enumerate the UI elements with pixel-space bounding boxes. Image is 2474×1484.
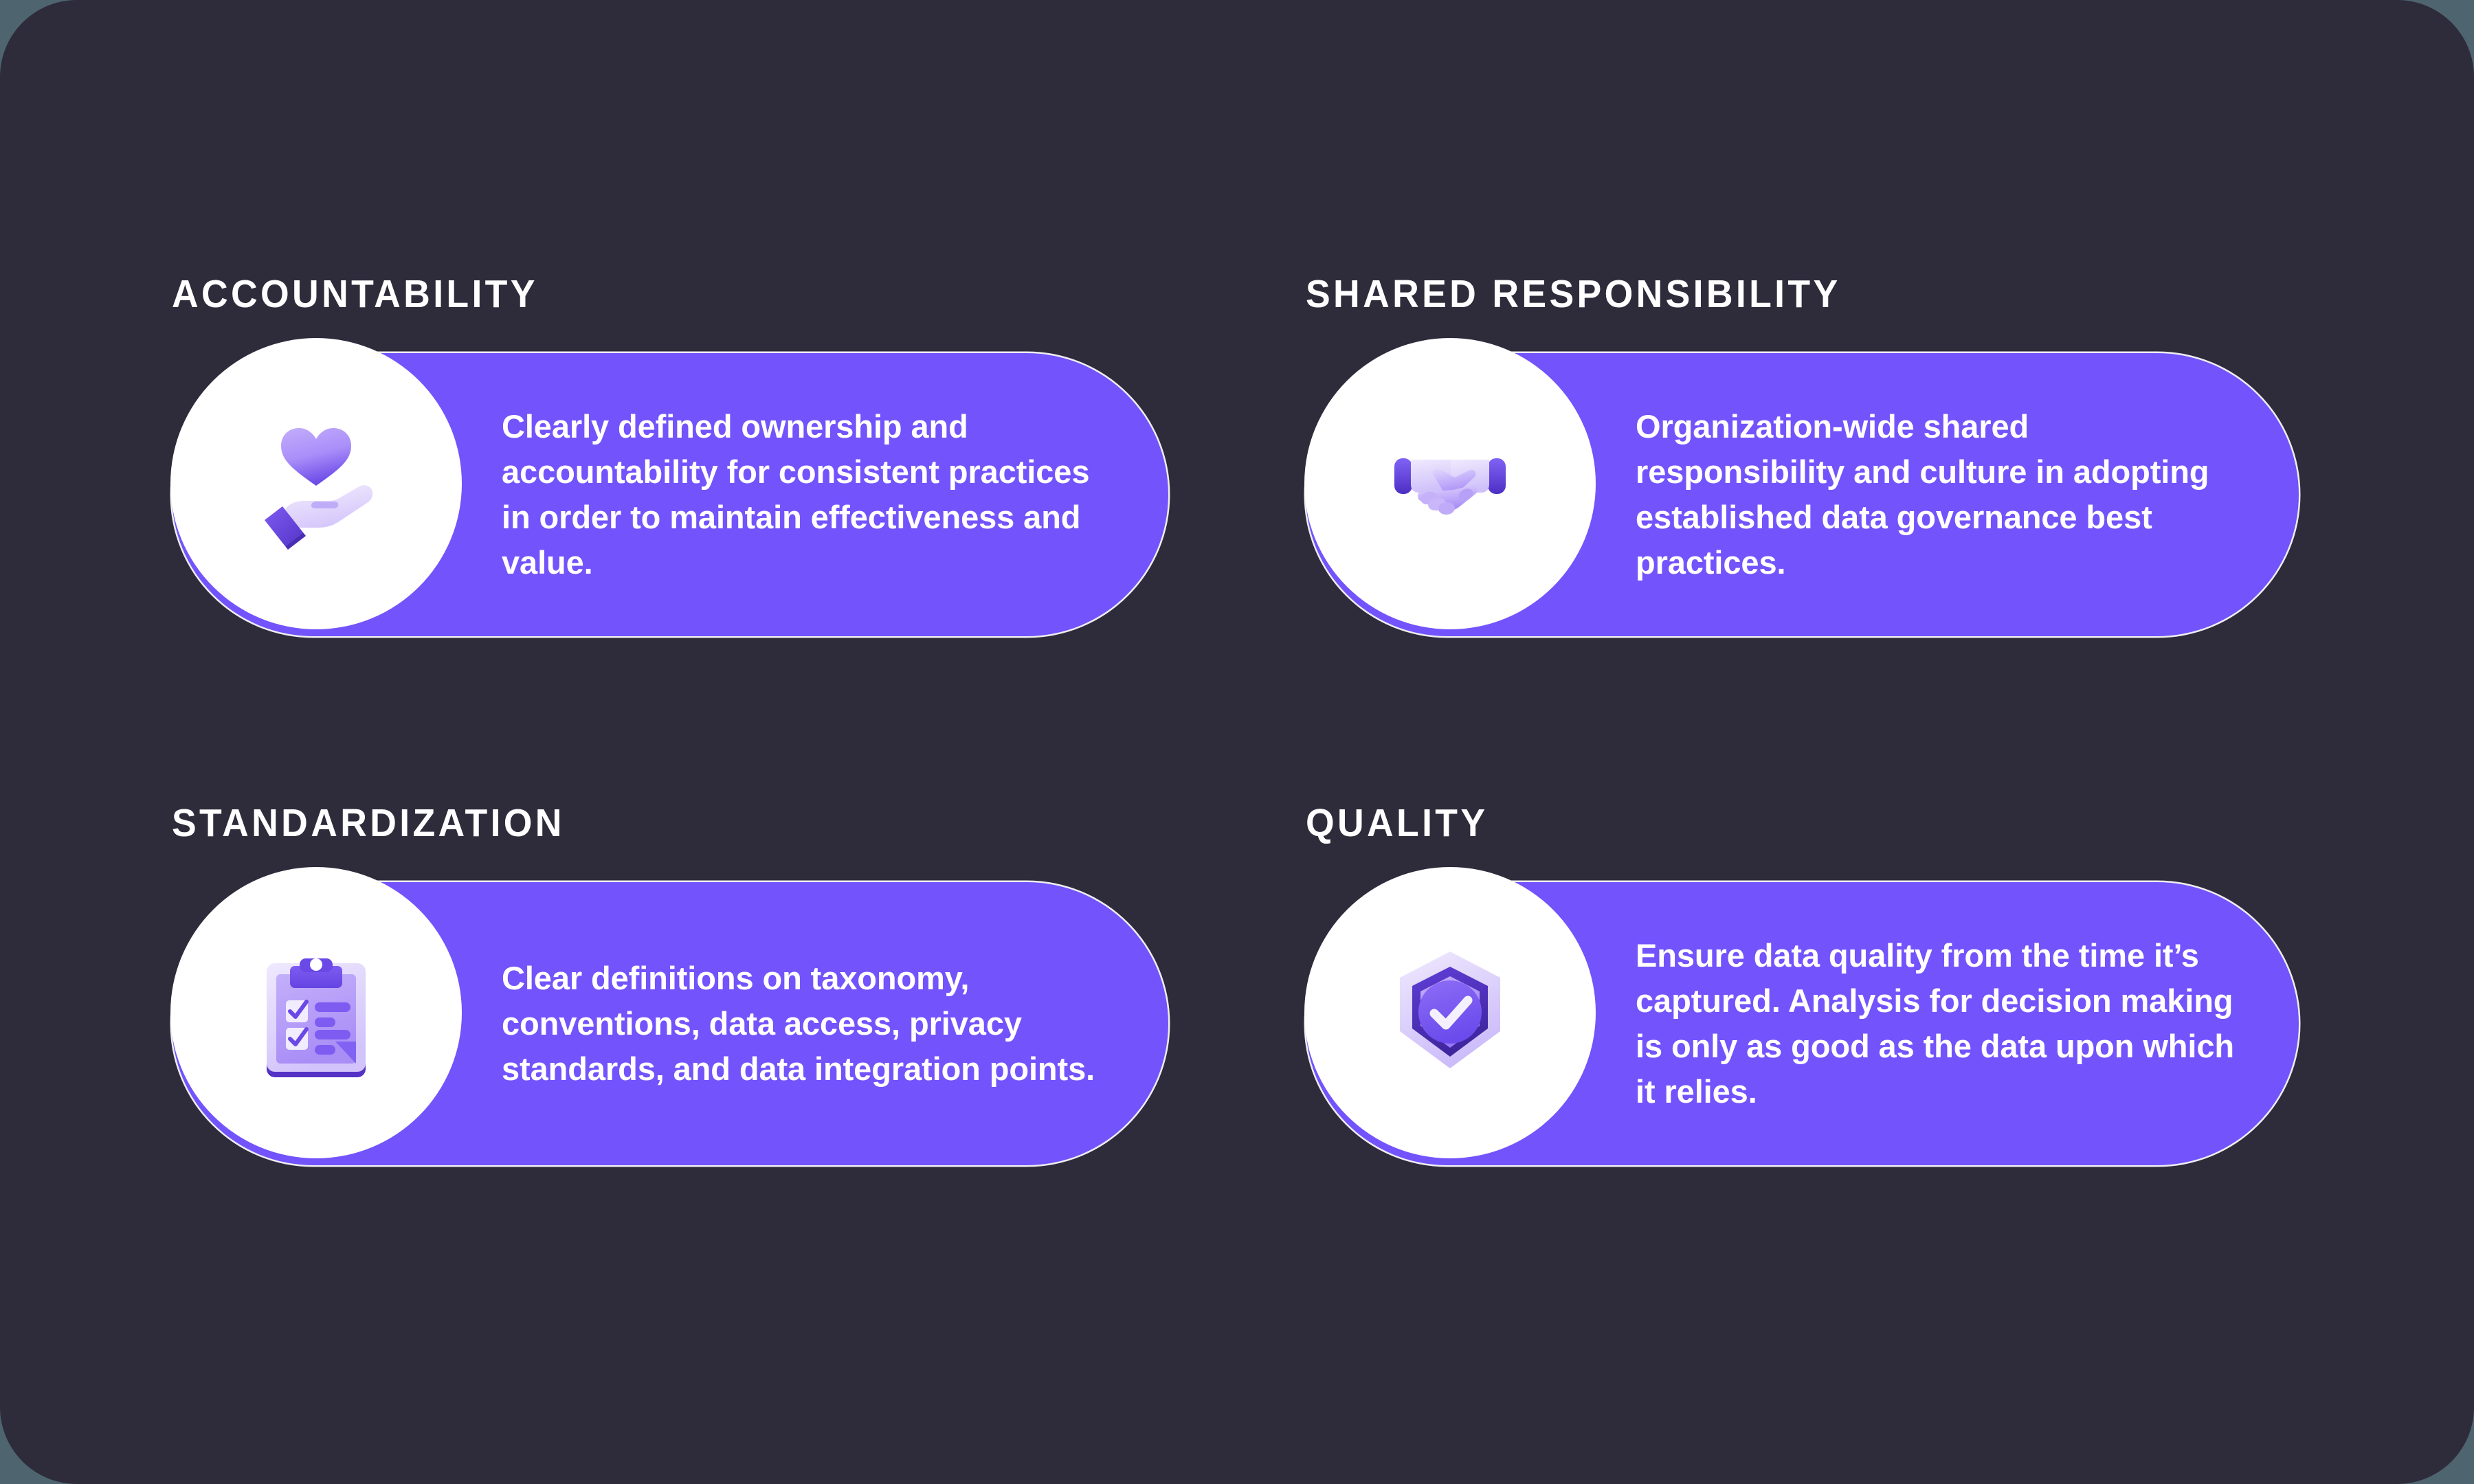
- icon-disc: [1304, 338, 1596, 629]
- infographic-panel: ACCOUNTABILITY: [0, 0, 2474, 1484]
- heart-in-hand-icon: [237, 405, 395, 563]
- card-title: ACCOUNTABILITY: [172, 275, 1108, 314]
- card-accountability: ACCOUNTABILITY: [172, 275, 1168, 636]
- card-body: Clear definitions on taxonomy, conventio…: [502, 956, 1127, 1091]
- card-pill: Clearly defined ownership and accountabi…: [172, 353, 1168, 636]
- card-body-wrap: Clear definitions on taxonomy, conventio…: [502, 882, 1127, 1165]
- icon-disc: [170, 338, 462, 629]
- card-body: Clearly defined ownership and accountabi…: [502, 404, 1102, 585]
- card-body-wrap: Ensure data quality from the time it’s c…: [1636, 882, 2258, 1165]
- card-body-wrap: Clearly defined ownership and accountabi…: [502, 353, 1102, 636]
- card-shared-responsibility: SHARED RESPONSIBILITY: [1306, 275, 2299, 636]
- icon-disc: [170, 867, 462, 1158]
- card-standardization: STANDARDIZATION: [172, 804, 1168, 1165]
- card-body: Ensure data quality from the time it’s c…: [1636, 933, 2258, 1114]
- card-body-wrap: Organization-wide shared responsibility …: [1636, 353, 2233, 636]
- card-title: QUALITY: [1306, 804, 2239, 843]
- clipboard-checklist-icon: [241, 937, 392, 1088]
- handshake-icon: [1371, 405, 1529, 563]
- card-pill: Organization-wide shared responsibility …: [1306, 353, 2299, 636]
- card-quality: QUALITY: [1306, 804, 2299, 1165]
- card-title: STANDARDIZATION: [172, 804, 1108, 843]
- card-pill: Clear definitions on taxonomy, conventio…: [172, 882, 1168, 1165]
- card-body: Organization-wide shared responsibility …: [1636, 404, 2233, 585]
- card-title: SHARED RESPONSIBILITY: [1306, 275, 2239, 314]
- shield-check-icon: [1372, 935, 1528, 1090]
- icon-disc: [1304, 867, 1596, 1158]
- card-pill: Ensure data quality from the time it’s c…: [1306, 882, 2299, 1165]
